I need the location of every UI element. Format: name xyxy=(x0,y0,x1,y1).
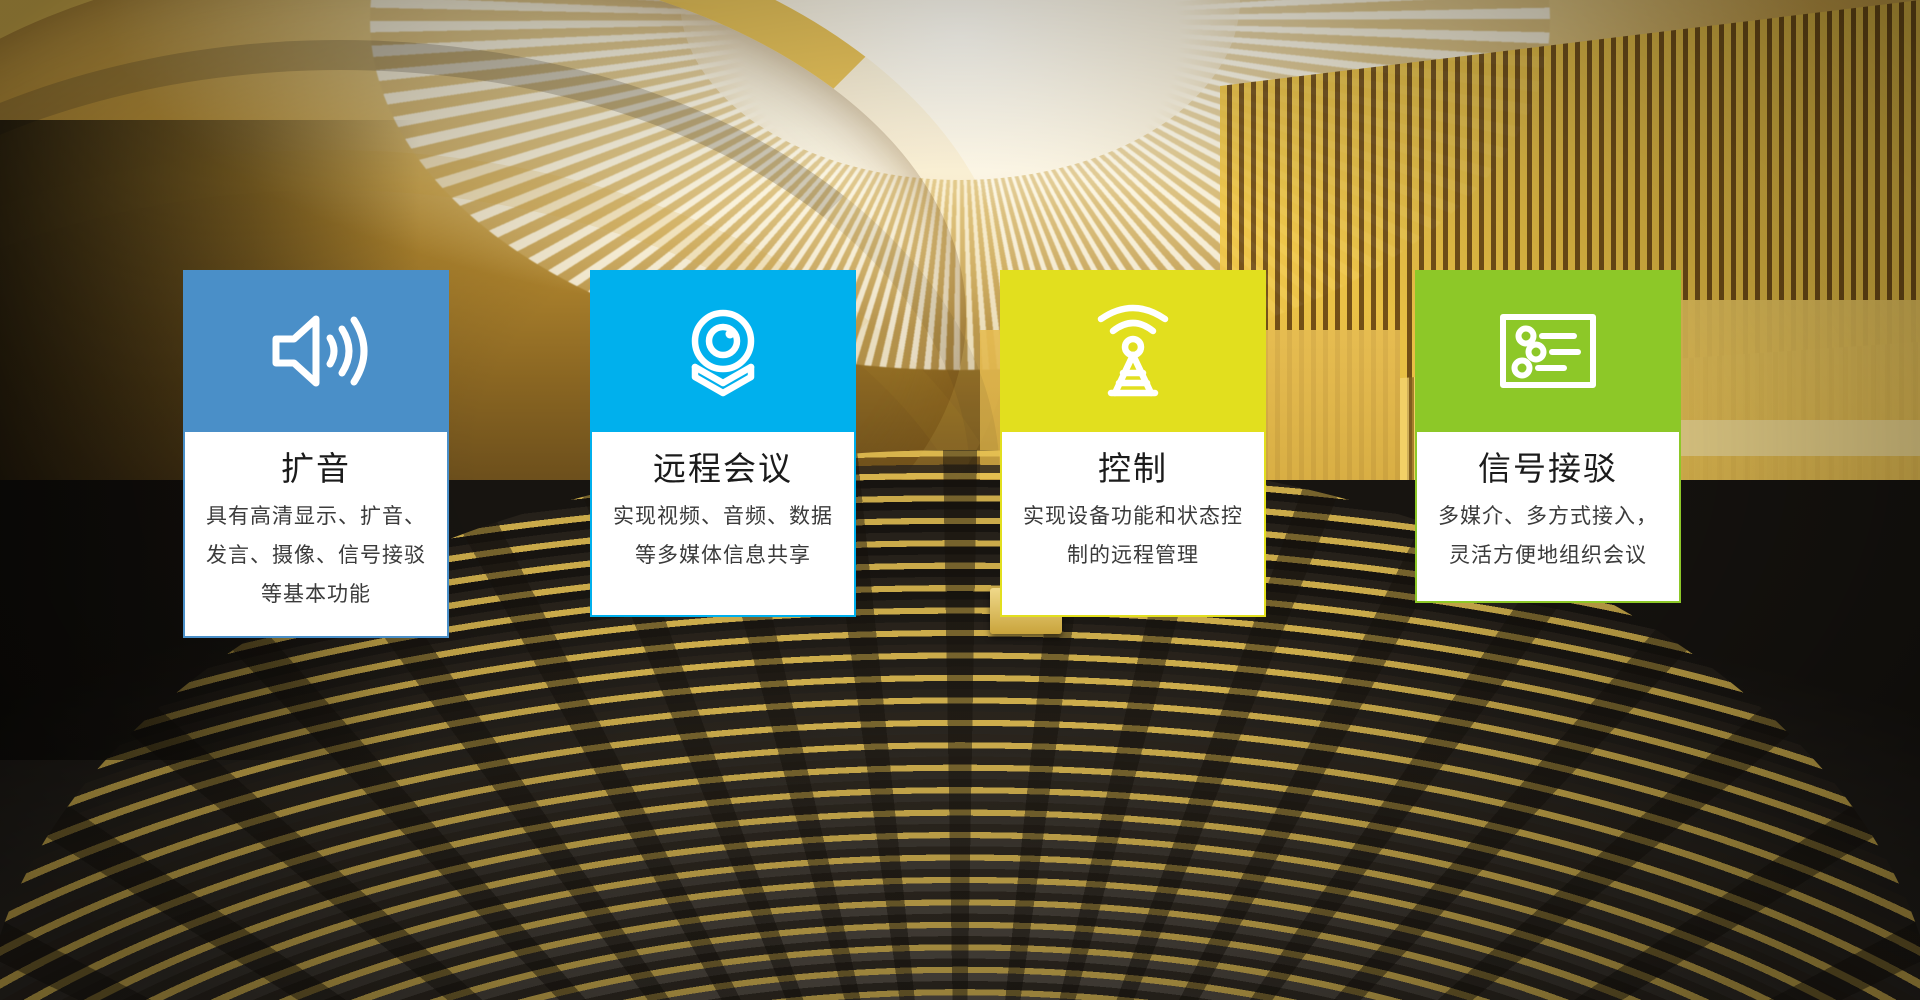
feature-card-amplification[interactable]: 扩音 具有高清显示、扩音、发言、摄像、信号接驳等基本功能 xyxy=(183,270,449,638)
card-body-amplification: 扩音 具有高清显示、扩音、发言、摄像、信号接驳等基本功能 xyxy=(183,432,449,638)
card-description: 实现视频、音频、数据等多媒体信息共享 xyxy=(610,497,836,575)
card-description: 实现设备功能和状态控制的远程管理 xyxy=(1020,497,1246,575)
card-header-remote-conference xyxy=(590,270,856,432)
feature-card-signal-access[interactable]: 信号接驳 多媒介、多方式接入，灵活方便地组织会议 xyxy=(1415,270,1681,603)
card-title: 信号接驳 xyxy=(1435,448,1661,489)
card-header-signal-access xyxy=(1415,270,1681,432)
card-header-amplification xyxy=(183,270,449,432)
speaker-volume-icon xyxy=(264,305,368,397)
feature-card-remote-conference[interactable]: 远程会议 实现视频、音频、数据等多媒体信息共享 xyxy=(590,270,856,617)
feature-card-control[interactable]: 控制 实现设备功能和状态控制的远程管理 xyxy=(1000,270,1266,617)
card-header-control xyxy=(1000,270,1266,432)
card-description: 多媒介、多方式接入，灵活方便地组织会议 xyxy=(1435,497,1661,575)
card-body-signal-access: 信号接驳 多媒介、多方式接入，灵活方便地组织会议 xyxy=(1415,432,1681,603)
antenna-tower-icon xyxy=(1089,303,1177,399)
signal-panel-icon xyxy=(1498,312,1598,390)
webcam-icon xyxy=(675,305,771,397)
card-description: 具有高清显示、扩音、发言、摄像、信号接驳等基本功能 xyxy=(203,497,429,614)
card-body-control: 控制 实现设备功能和状态控制的远程管理 xyxy=(1000,432,1266,617)
card-title: 扩音 xyxy=(203,448,429,489)
card-body-remote-conference: 远程会议 实现视频、音频、数据等多媒体信息共享 xyxy=(590,432,856,617)
page-root: 扩音 具有高清显示、扩音、发言、摄像、信号接驳等基本功能 远程会议 xyxy=(0,0,1920,1000)
card-title: 远程会议 xyxy=(610,448,836,489)
feature-card-list: 扩音 具有高清显示、扩音、发言、摄像、信号接驳等基本功能 远程会议 xyxy=(0,0,1920,1000)
card-title: 控制 xyxy=(1020,448,1246,489)
